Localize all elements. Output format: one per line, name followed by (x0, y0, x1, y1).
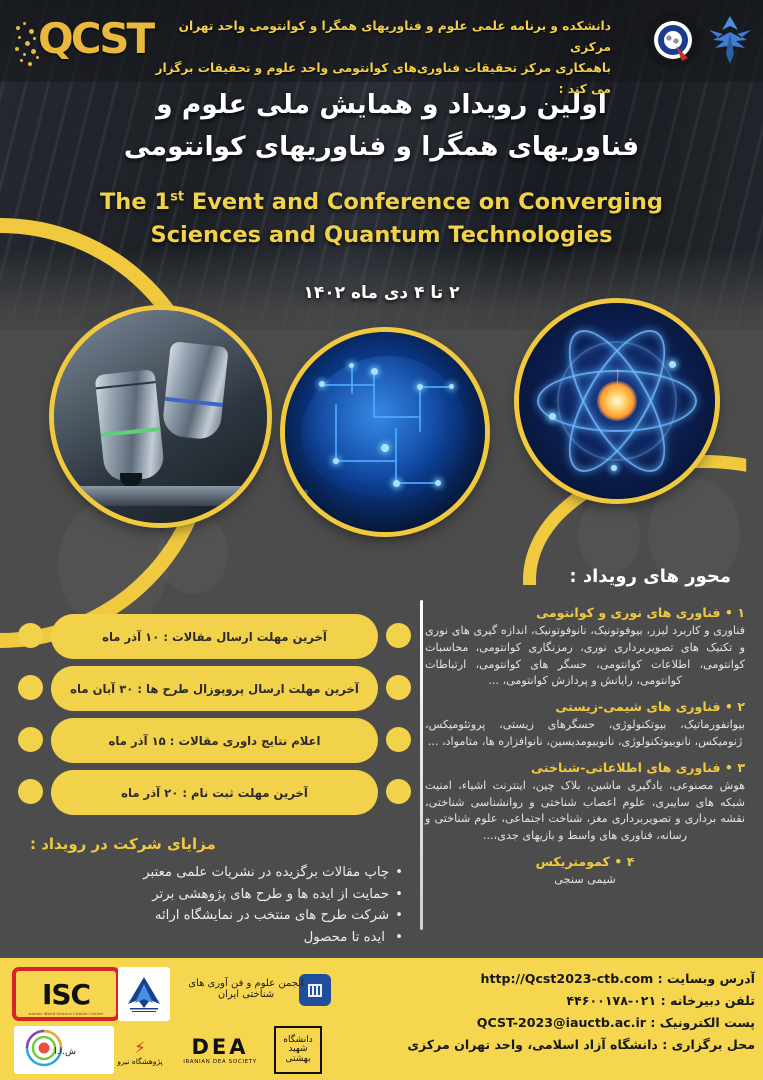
deadline-dot-left (18, 623, 43, 648)
q-circle-icon (648, 15, 698, 65)
deadline-pill[interactable]: آخرین مهلت ارسال مقالات : ۱۰ آذر ماه (51, 614, 378, 659)
isc-text: ISC (42, 978, 90, 1011)
sponsor-logos: ISC Islamic World Science Citation Cente… (6, 964, 336, 1076)
deadline-dot-right (386, 779, 411, 804)
circuit-node (371, 368, 378, 375)
topic-item: ۱ • فناوری های نوری و کوانتومی فناوری و … (425, 605, 745, 690)
topics-heading: محور های رویداد : (569, 566, 731, 587)
niroo-research-logo: ⚡ پژوهشگاه نیرو (110, 1030, 170, 1074)
azad-university-logo (705, 10, 755, 72)
electron (611, 465, 617, 471)
vertical-divider (420, 600, 423, 930)
niroo-label: پژوهشگاه نیرو (117, 1057, 162, 1066)
persian-title: اولین رویداد و همایش ملی علوم و فناوریها… (0, 84, 763, 169)
circuit-trace (419, 388, 421, 432)
benefits-heading: مزایای شرکت در رویداد : (30, 835, 216, 853)
binary-line: 0100 (291, 498, 308, 507)
isc-subtitle: Islamic World Science Citation Center (16, 1012, 116, 1016)
microscope-stage (74, 486, 249, 506)
english-title: The 1st Event and Conference on Convergi… (0, 186, 763, 251)
circuit-node (319, 381, 325, 387)
circuit-trace (373, 416, 421, 418)
topic-body: هوش مصنوعی، یادگیری ماشین، بلاک چین، این… (425, 778, 745, 845)
dea-text: DEA (191, 1035, 248, 1059)
shahid-beheshti-university-logo: دانشگاه شهید بهشتی (274, 1026, 322, 1074)
topic-item: ۴ • کمومتریکس شیمی سنجی (425, 854, 745, 889)
deadline-pill[interactable]: آخرین مهلت ثبت نام : ۲۰ آذر ماه (51, 770, 378, 815)
benefit-item: حمایت از ایده ها و طرح های پژوهشی برتر (18, 884, 403, 906)
circuit-trace (335, 404, 337, 462)
topic-title: ۴ • کمومتریکس (425, 854, 745, 869)
cognitive-association-logo (118, 967, 170, 1021)
topic-item: ۲ • فناوری های شیمی-زیستی بیوانفورماتیک،… (425, 699, 745, 751)
dea-subtitle: IRANIAN DEA SOCIETY (183, 1059, 256, 1065)
website-row: آدرس وبسایت : http://Qcst2023-ctb.com (335, 968, 755, 990)
english-title-rest: Event and Conference on Converging (192, 189, 663, 215)
email-address[interactable]: QCST-2023@iauctb.ac.ir (477, 1015, 646, 1030)
topic-label: کمومتریکس (536, 854, 610, 869)
qcst-wordmark-text: QCST (38, 14, 152, 63)
topic-label: فناوری های شیمی-زیستی (555, 699, 720, 714)
english-title-line-2: Sciences and Quantum Technologies (0, 219, 763, 252)
circuit-trace (419, 386, 453, 388)
circuit-node (349, 363, 354, 368)
persian-title-line-1: اولین رویداد و همایش ملی علوم و (0, 84, 763, 126)
event-date: ۲ تا ۴ دی ماه ۱۴۰۲ (0, 283, 763, 303)
topic-body: فناوری و کاربرد لیزر، بیوفوتونیک، نانوفو… (425, 623, 745, 690)
website-url[interactable]: http://Qcst2023-ctb.com (480, 971, 653, 986)
topic-number: ۱ (737, 605, 745, 620)
benefit-continuation-text: ایده تا محصول (304, 930, 385, 945)
qcst-logo: QCST (14, 10, 142, 72)
topic-number: ۲ (737, 699, 745, 714)
deadline-dot-left (18, 727, 43, 752)
footer-bar: آدرس وبسایت : http://Qcst2023-ctb.com تل… (0, 958, 763, 1080)
topic-item: ۳ • فناوری های اطلاعاتی-شناختی هوش مصنوع… (425, 760, 745, 845)
azad-wings-icon (705, 10, 755, 70)
binary-line: 0110 (291, 489, 308, 498)
topics-list: ۱ • فناوری های نوری و کوانتومی فناوری و … (425, 596, 745, 889)
lens-blue-ring (165, 397, 223, 407)
benefits-list: چاپ مقالات برگزیده در نشریات علمی معتبر … (18, 862, 403, 948)
circuit-node (435, 480, 441, 486)
topic-number: ۴ (627, 854, 635, 869)
topic-title: ۳ • فناوری های اطلاعاتی-شناختی (425, 760, 745, 775)
circuit-trace (321, 384, 375, 386)
benefit-continuation: ایده تا محصول (18, 927, 403, 949)
atom-nucleus (597, 381, 637, 421)
organizer-line-1: دانشکده و برنامه علمی علوم و فناوریهای ه… (141, 16, 611, 58)
benefit-item: چاپ مقالات برگزیده در نشریات علمی معتبر (18, 862, 403, 884)
atom-image (519, 303, 715, 499)
ai-brain-image: 0110 0100 1001 1001 (285, 332, 485, 532)
email-label: پست الکترونیک : (650, 1015, 755, 1030)
binary-line: 1001 (291, 515, 308, 524)
deadline-dot-right (386, 675, 411, 700)
english-title-prefix: The 1 (100, 189, 170, 215)
english-title-line-1: The 1st Event and Conference on Convergi… (0, 186, 763, 219)
circuit-trace (351, 366, 353, 394)
topic-number: ۳ (737, 760, 745, 775)
binary-line: 1001 (291, 507, 308, 516)
quantum-center-logo (645, 12, 701, 68)
circuit-node (449, 384, 454, 389)
topic-body: شیمی سنجی (425, 872, 745, 889)
ordinal-suffix: st (170, 190, 184, 205)
venue-name: دانشگاه آزاد اسلامی، واحد تهران مرکزی (407, 1037, 657, 1052)
phone-label: تلفن دبیرخانه : (661, 993, 755, 1008)
electron (549, 413, 556, 420)
association-name: انجمن علوم و فن آوری های شناختی ایران (176, 978, 316, 1000)
deadline-pill[interactable]: آخرین مهلت ارسال پروپوزال طرح ها : ۳۰ آب… (51, 666, 378, 711)
header-bar: QCST دانشکده و برنامه علمی علوم و فناوری… (0, 0, 763, 82)
circuit-node (381, 444, 389, 452)
circuit-node (393, 480, 400, 487)
lens-dark-ring (96, 381, 156, 389)
venue-label: محل برگزاری : (662, 1037, 755, 1052)
objective-lens-left (95, 369, 166, 483)
deadline-row: آخرین مهلت ارسال پروپوزال طرح ها : ۳۰ آب… (18, 666, 411, 711)
microscope-image (54, 310, 267, 523)
benefit-item: شرکت طرح های منتخب در نمایشگاه ارائه (18, 905, 403, 927)
topic-title: ۲ • فناوری های شیمی-زیستی (425, 699, 745, 714)
deadline-row: آخرین مهلت ثبت نام : ۲۰ آذر ماه (18, 770, 411, 815)
niroo-bolt-icon: ⚡ (134, 1038, 145, 1057)
deadline-row: اعلام نتایج داوری مقالات : ۱۵ آذر ماه (18, 718, 411, 763)
website-label: آدرس وبسایت : (658, 971, 755, 986)
circuit-trace (395, 428, 397, 484)
topic-title: ۱ • فناوری های نوری و کوانتومی (425, 605, 745, 620)
topic-body: بیوانفورماتیک، بیوتکنولوژی، حسگرهای زیست… (425, 717, 745, 751)
association-bird-icon (124, 974, 164, 1018)
circuit-node (333, 458, 339, 464)
deadline-dot-left (18, 779, 43, 804)
topic-label: فناوری های اطلاعاتی-شناختی (531, 760, 721, 775)
deadline-row: آخرین مهلت ارسال مقالات : ۱۰ آذر ماه (18, 614, 411, 659)
dea-society-logo: DEA IRANIAN DEA SOCIETY (174, 1030, 266, 1070)
deadline-dot-right (386, 623, 411, 648)
venue-row: محل برگزاری : دانشگاه آزاد اسلامی، واحد … (335, 1034, 755, 1056)
topic-label: فناوری های نوری و کوانتومی (536, 605, 720, 620)
svg-text:ش.ا.ا: ش.ا.ا (54, 1047, 76, 1057)
conference-poster: QCST دانشکده و برنامه علمی علوم و فناوری… (0, 0, 763, 1080)
spectroscopy-society-logo: ش.ا.ا (14, 1026, 114, 1074)
circuit-trace (335, 460, 397, 462)
email-row: پست الکترونیک : QCST-2023@iauctb.ac.ir (335, 1012, 755, 1034)
circuit-trace (395, 482, 437, 484)
spectroscopy-icon: ش.ا.ا (18, 1026, 114, 1070)
phone-number: ۰۲۱-۴۴۶۰۰۱۷۸ (566, 993, 656, 1008)
phone-row: تلفن دبیرخانه : ۰۲۱-۴۴۶۰۰۱۷۸ (335, 990, 755, 1012)
deadline-dot-right (386, 727, 411, 752)
deadlines-list: آخرین مهلت ارسال مقالات : ۱۰ آذر ماه آخر… (18, 614, 411, 822)
circuit-node (417, 384, 423, 390)
electron (669, 361, 676, 368)
deadline-dot-left (18, 675, 43, 700)
objective-lens-right (161, 341, 229, 441)
lens-green-ring (101, 427, 161, 437)
contact-info: آدرس وبسایت : http://Qcst2023-ctb.com تل… (335, 968, 755, 1056)
circuit-trace (373, 372, 375, 418)
deadline-pill[interactable]: اعلام نتایج داوری مقالات : ۱۵ آذر ماه (51, 718, 378, 763)
binary-digits: 0110 0100 1001 1001 (291, 489, 308, 524)
persian-title-line-2: فناوریهای همگرا و فناوریهای کوانتومی (0, 126, 763, 168)
isc-logo: ISC Islamic World Science Citation Cente… (12, 967, 120, 1021)
